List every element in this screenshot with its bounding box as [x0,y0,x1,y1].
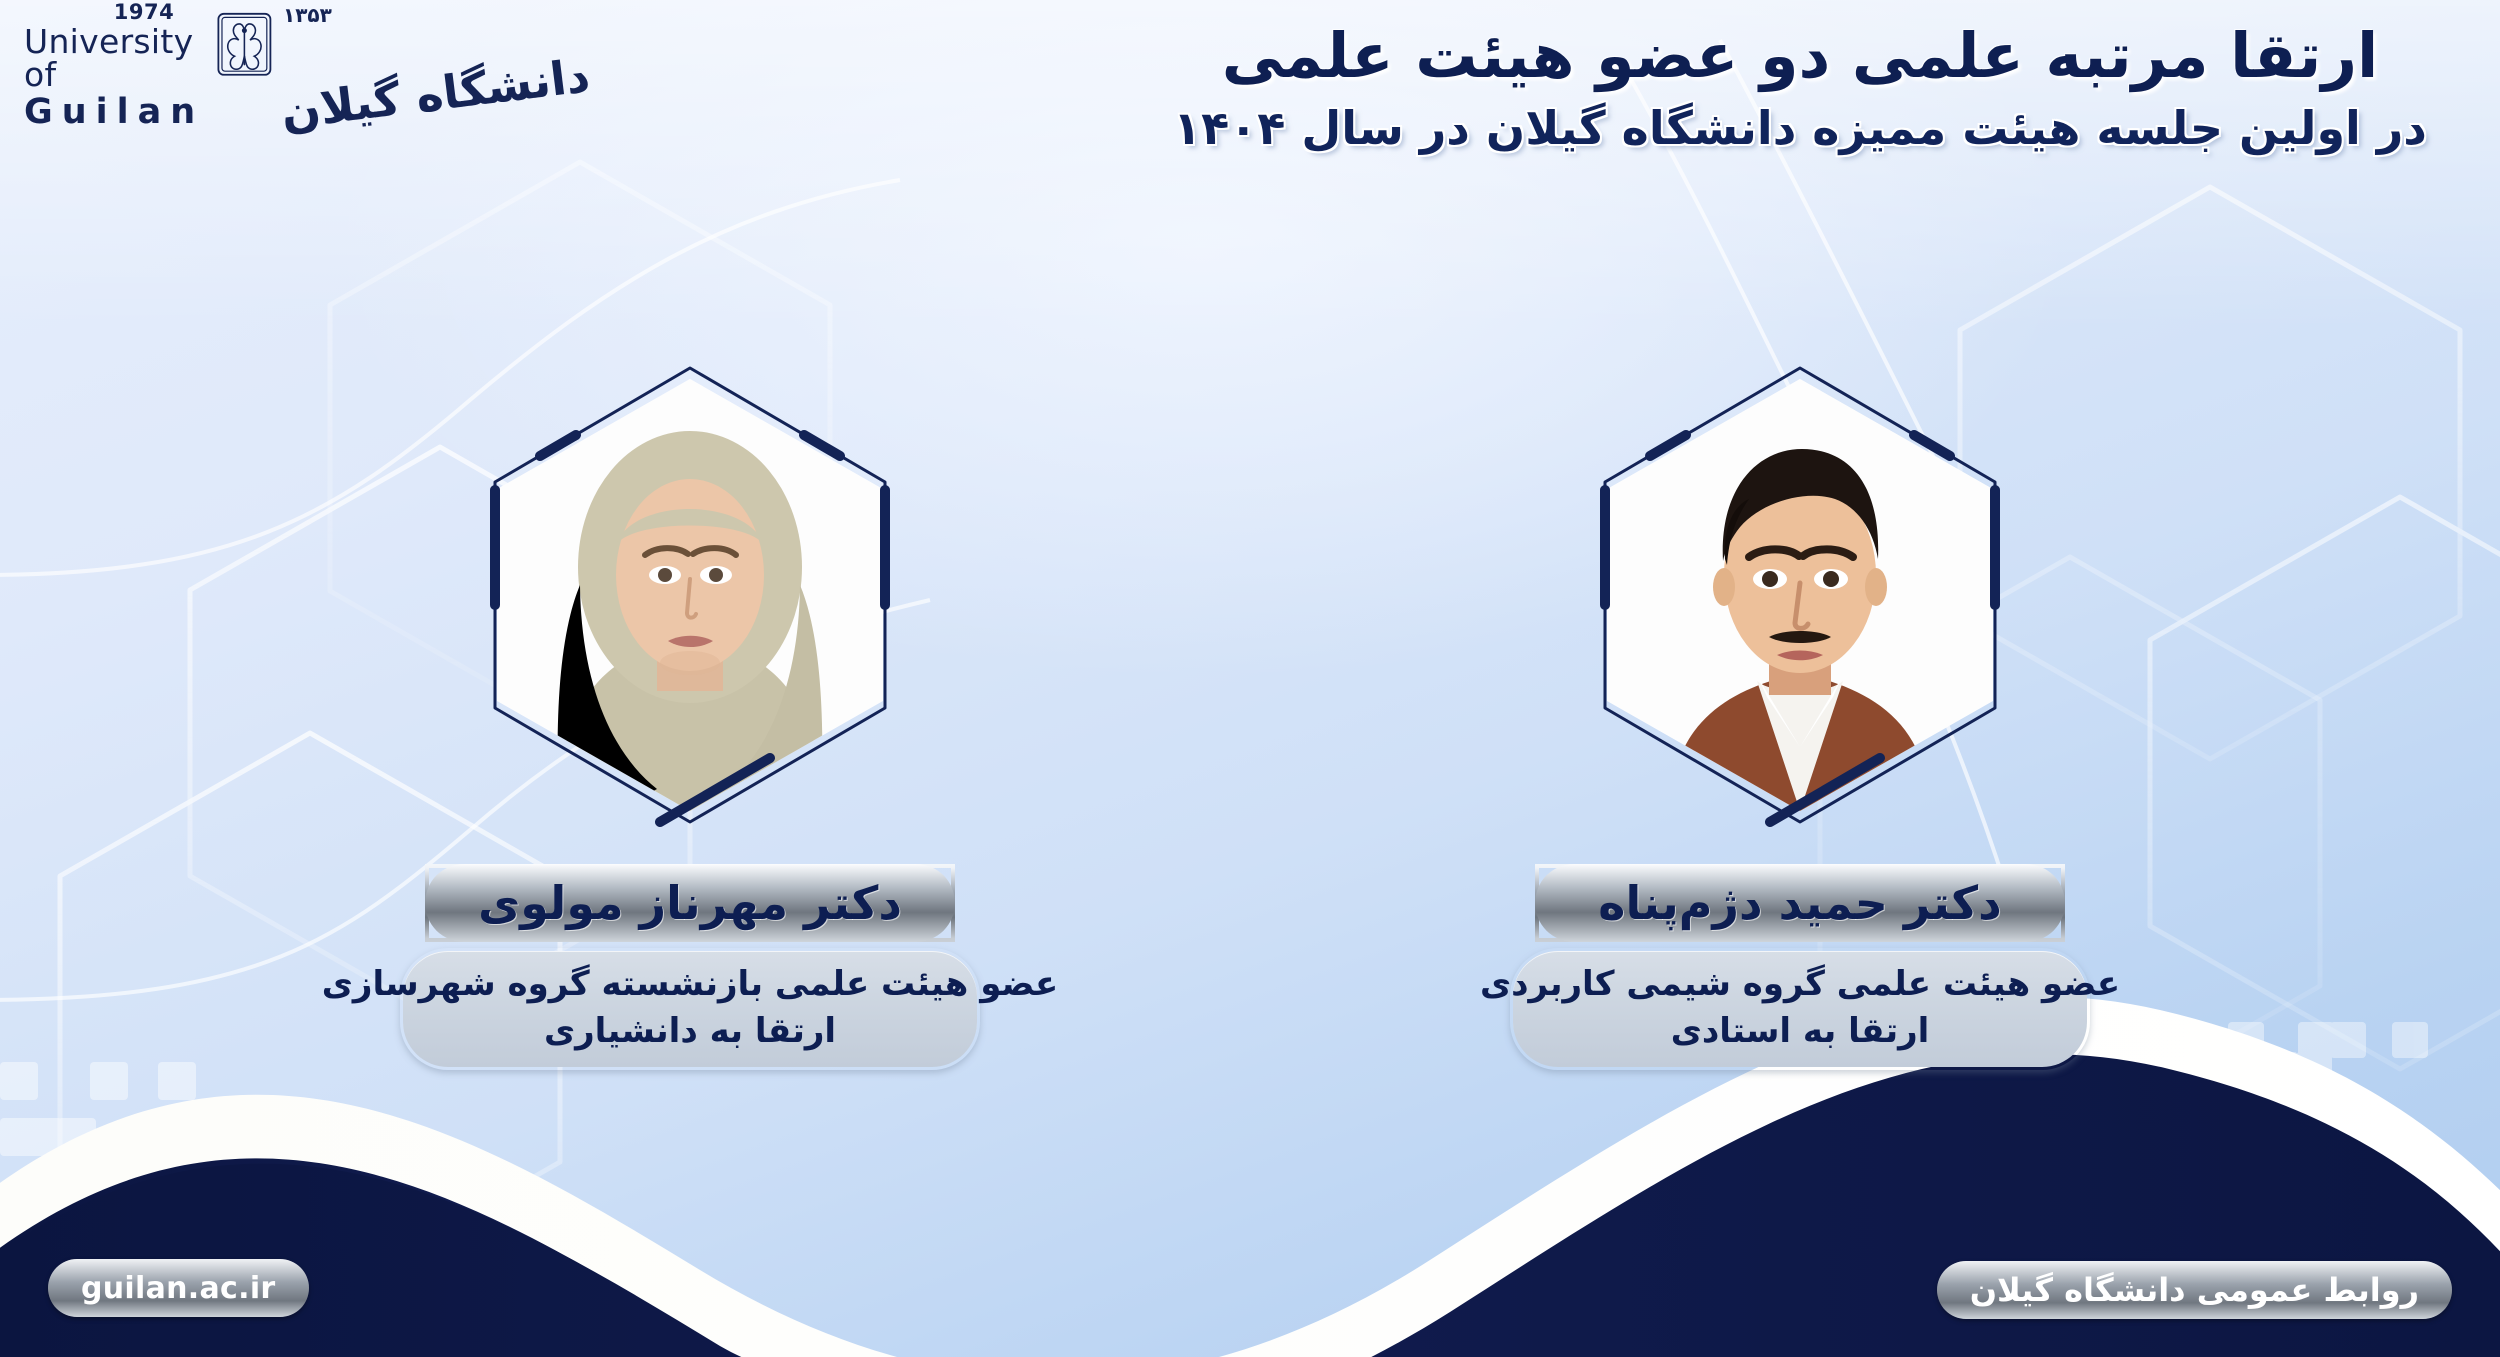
person-card-hamid-dezhampanah: دکتر حمید دژم‌پناه عضو هیئت علمی گروه شی… [1440,360,2160,1070]
person-name: دکتر مهرناز مولوی [478,876,902,930]
person-role-pill: عضو هیئت علمی بازنشسته گروه شهرسازی ارتق… [400,948,980,1070]
university-logo: 1974 University of Guilan ۱۳۵۳ دانشگاه گ… [24,6,494,126]
person-role-line1: عضو هیئت علمی گروه شیمی کاربردی [1480,961,2120,1008]
logo-name-fa-text: دانشگاه گیلان [278,48,593,139]
person-name: دکتر حمید دژم‌پناه [1598,876,2001,930]
headline-block: ارتقا مرتبه علمی دو عضو هیئت علمی در اول… [1140,20,2460,156]
person-card-mehrnaz-molavi: دکتر مهرناز مولوی عضو هیئت علمی بازنشسته… [330,360,1050,1070]
website-badge[interactable]: guilan.ac.ir [48,1259,309,1317]
public-relations-label: روابط عمومی دانشگاه گیلان [1970,1271,2419,1309]
poster-canvas: 1974 University of Guilan ۱۳۵۳ دانشگاه گ… [0,0,2500,1357]
logo-line1-en: University of [24,25,204,91]
website-url: guilan.ac.ir [81,1271,276,1306]
person-role-line1: عضو هیئت علمی بازنشسته گروه شهرسازی [322,961,1059,1008]
guilan-emblem-icon [216,12,273,120]
person-name-pill: دکتر حمید دژم‌پناه [1535,864,2065,942]
hexagon-photo-frame [480,360,900,830]
public-relations-badge[interactable]: روابط عمومی دانشگاه گیلان [1937,1261,2452,1319]
page-title: ارتقا مرتبه علمی دو عضو هیئت علمی [1140,20,2460,91]
logo-english-text: 1974 University of Guilan [24,2,204,130]
person-name-pill: دکتر مهرناز مولوی [425,864,955,942]
page-subtitle: در اولین جلسه هیئت ممیزه دانشگاه گیلان د… [1140,101,2460,156]
hexagon-outline [480,360,900,830]
person-promotion-line: ارتقا به استادی [1671,1008,1930,1055]
hexagon-photo-frame [1590,360,2010,830]
hexagon-outline [1590,360,2010,830]
logo-year-en: 1974 [114,2,174,23]
person-promotion-line: ارتقا به دانشیاری [544,1008,836,1055]
logo-name-fa: دانشگاه گیلان [279,21,494,129]
logo-line2-en: Guilan [24,95,204,130]
person-role-pill: عضو هیئت علمی گروه شیمی کاربردی ارتقا به… [1510,948,2090,1070]
logo-farsi-block: ۱۳۵۳ دانشگاه گیلان [279,3,494,129]
